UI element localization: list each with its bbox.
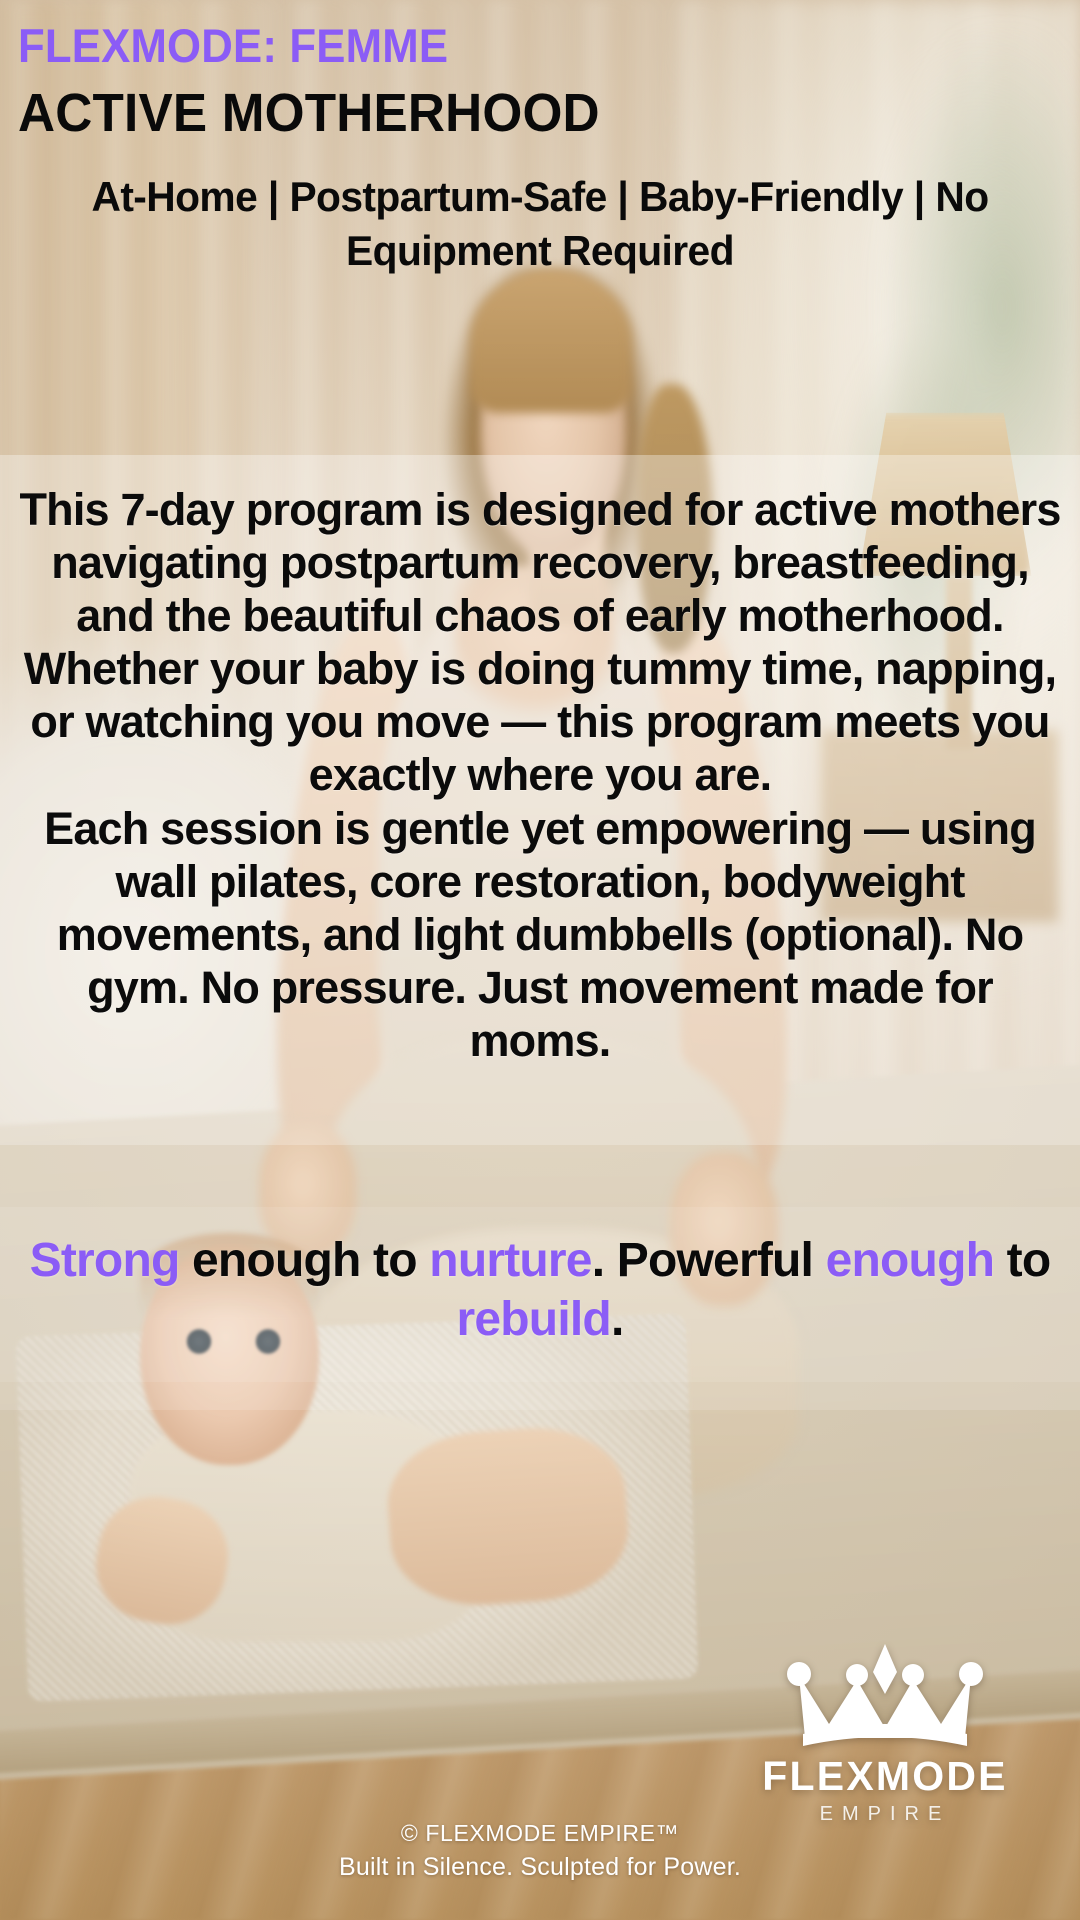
tagline-text-1: enough to <box>179 1234 429 1287</box>
brand-logo: FLEXMODE EMPIRE <box>760 1642 1010 1824</box>
brand-motto: Built in Silence. Sculpted for Power. <box>0 1853 1080 1882</box>
footer: © FLEXMODE EMPIRE™ Built in Silence. Scu… <box>0 1820 1080 1882</box>
brand-kicker: FLEXMODE: FEMME <box>18 22 448 69</box>
body-paragraph-2: Each session is gentle yet empowering — … <box>12 802 1068 1067</box>
body-paragraph-1: This 7-day program is designed for activ… <box>12 483 1068 802</box>
poster-content: FLEXMODE: FEMME ACTIVE MOTHERHOOD At-Hom… <box>0 0 1080 1920</box>
body-copy: This 7-day program is designed for activ… <box>12 483 1068 1067</box>
tagline: Strong enough to nurture. Powerful enoug… <box>6 1232 1074 1349</box>
page-title: ACTIVE MOTHERHOOD <box>18 86 600 140</box>
tagline-word-rebuild: rebuild <box>457 1293 611 1346</box>
feature-subtitle: At-Home | Postpartum-Safe | Baby-Friendl… <box>30 170 1050 278</box>
tagline-text-3: to <box>994 1234 1050 1287</box>
tagline-text-2: . Powerful <box>592 1234 826 1287</box>
logo-wordmark: FLEXMODE <box>760 1756 1010 1797</box>
crown-icon <box>760 1642 1010 1750</box>
tagline-word-enough: enough <box>826 1234 995 1287</box>
tagline-word-nurture: nurture <box>429 1234 591 1287</box>
copyright-text: © FLEXMODE EMPIRE™ <box>0 1820 1080 1847</box>
poster-canvas: FLEXMODE: FEMME ACTIVE MOTHERHOOD At-Hom… <box>0 0 1080 1920</box>
tagline-text-4: . <box>611 1293 624 1346</box>
tagline-word-strong: Strong <box>30 1234 180 1287</box>
